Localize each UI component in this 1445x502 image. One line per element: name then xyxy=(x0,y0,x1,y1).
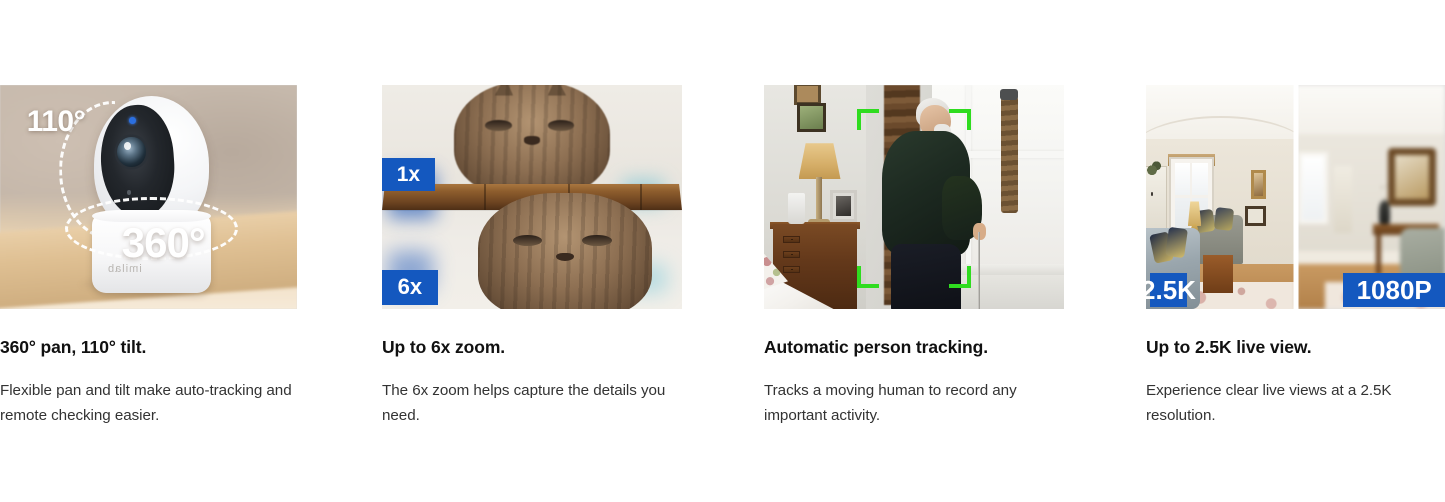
cat-fur-stripes xyxy=(478,193,652,309)
cat-1x xyxy=(454,85,610,197)
feature-grid-page: imilab 110° 360° 360° pan, 110° tilt. Fl… xyxy=(0,0,1445,502)
coffee-table xyxy=(1203,255,1233,293)
resolution-badge-1080p: 1080P xyxy=(1343,273,1445,307)
pan-angle-label: 360° xyxy=(122,219,205,267)
wall-mirror xyxy=(1388,148,1436,206)
walking-cane xyxy=(978,232,980,309)
tracking-bracket-top-left-icon xyxy=(857,109,879,130)
tracking-bracket-top-right-icon xyxy=(949,109,971,130)
feature-card-tracking-text: Automatic person tracking. Tracks a movi… xyxy=(764,337,1064,502)
feature-body: Flexible pan and tilt make auto-tracking… xyxy=(0,379,297,428)
dresser-drawer xyxy=(783,266,800,273)
status-led-icon xyxy=(129,117,136,124)
resolution-badge-2-5k: 2.5K xyxy=(1150,273,1187,307)
feature-card-zoom-text: Up to 6x zoom. The 6x zoom helps capture… xyxy=(382,337,682,502)
dresser-drawer xyxy=(783,236,800,243)
console-table-leg xyxy=(1376,235,1380,275)
wall-art xyxy=(1251,170,1266,199)
feature-card-pan-tilt-text: 360° pan, 110° tilt. Flexible pan and ti… xyxy=(0,337,297,502)
comparison-split: 2.5K xyxy=(1146,85,1445,309)
vase xyxy=(1379,201,1389,226)
feature-heading: Automatic person tracking. xyxy=(764,337,1064,358)
zoom-image: 1x 6x xyxy=(382,85,682,309)
tracking-bracket-bottom-right-icon xyxy=(949,266,971,287)
feature-heading: Up to 2.5K live view. xyxy=(1146,337,1445,358)
feature-heading: 360° pan, 110° tilt. xyxy=(0,337,297,358)
table-lamp-stem xyxy=(816,177,823,224)
cat-eyes xyxy=(478,235,652,246)
feature-card-liveview-media: 2.5K xyxy=(1146,85,1445,309)
cabinet xyxy=(1334,166,1352,233)
cat-eye-right xyxy=(548,120,575,130)
tracked-person xyxy=(872,94,992,309)
cat-eyes xyxy=(454,120,610,130)
curtain-tieback xyxy=(1001,96,1018,212)
feature-card-liveview-text: Up to 2.5K live view. Experience clear l… xyxy=(1146,337,1445,502)
feature-grid: imilab 110° 360° 360° pan, 110° tilt. Fl… xyxy=(0,0,1445,502)
table-lamp-shade xyxy=(799,143,841,179)
cat-6x xyxy=(478,193,652,309)
tracking-bracket-bottom-left-icon xyxy=(857,266,879,287)
dresser-drawer xyxy=(783,251,800,258)
cat-nose xyxy=(524,136,540,144)
camera-lens xyxy=(117,137,145,167)
comparison-half-2-5k: 2.5K xyxy=(1146,85,1296,309)
feature-body: Tracks a moving human to record any impo… xyxy=(764,379,1064,428)
feature-heading: Up to 6x zoom. xyxy=(382,337,682,358)
comparison-divider xyxy=(1293,85,1298,309)
cordless-phone xyxy=(788,193,805,224)
wall-art xyxy=(1245,206,1266,226)
pan-tilt-image: imilab 110° 360° xyxy=(0,85,297,309)
cat-eye-left xyxy=(513,235,543,246)
feature-body: Experience clear live views at a 2.5K re… xyxy=(1146,379,1445,428)
cat-eye-left xyxy=(485,120,512,130)
zoom-badge-6x: 6x xyxy=(382,270,438,305)
wall-picture-frame xyxy=(797,103,826,132)
plant xyxy=(1146,157,1161,179)
zoom-badge-1x: 1x xyxy=(382,158,435,191)
resolution-comparison-image: 2.5K xyxy=(1146,85,1445,309)
framed-photo xyxy=(830,190,857,221)
feature-card-zoom-media: 1x 6x xyxy=(382,85,682,309)
feature-card-pan-tilt-media: imilab 110° 360° xyxy=(0,85,297,309)
feature-card-tracking-media xyxy=(764,85,1064,309)
window xyxy=(1298,152,1328,224)
tilt-angle-label: 110° xyxy=(27,105,85,139)
throw-pillow xyxy=(1214,207,1234,231)
feature-body: The 6x zoom helps capture the details yo… xyxy=(382,379,682,428)
cat-eye-right xyxy=(582,235,612,246)
person-tracking-image xyxy=(764,85,1064,309)
